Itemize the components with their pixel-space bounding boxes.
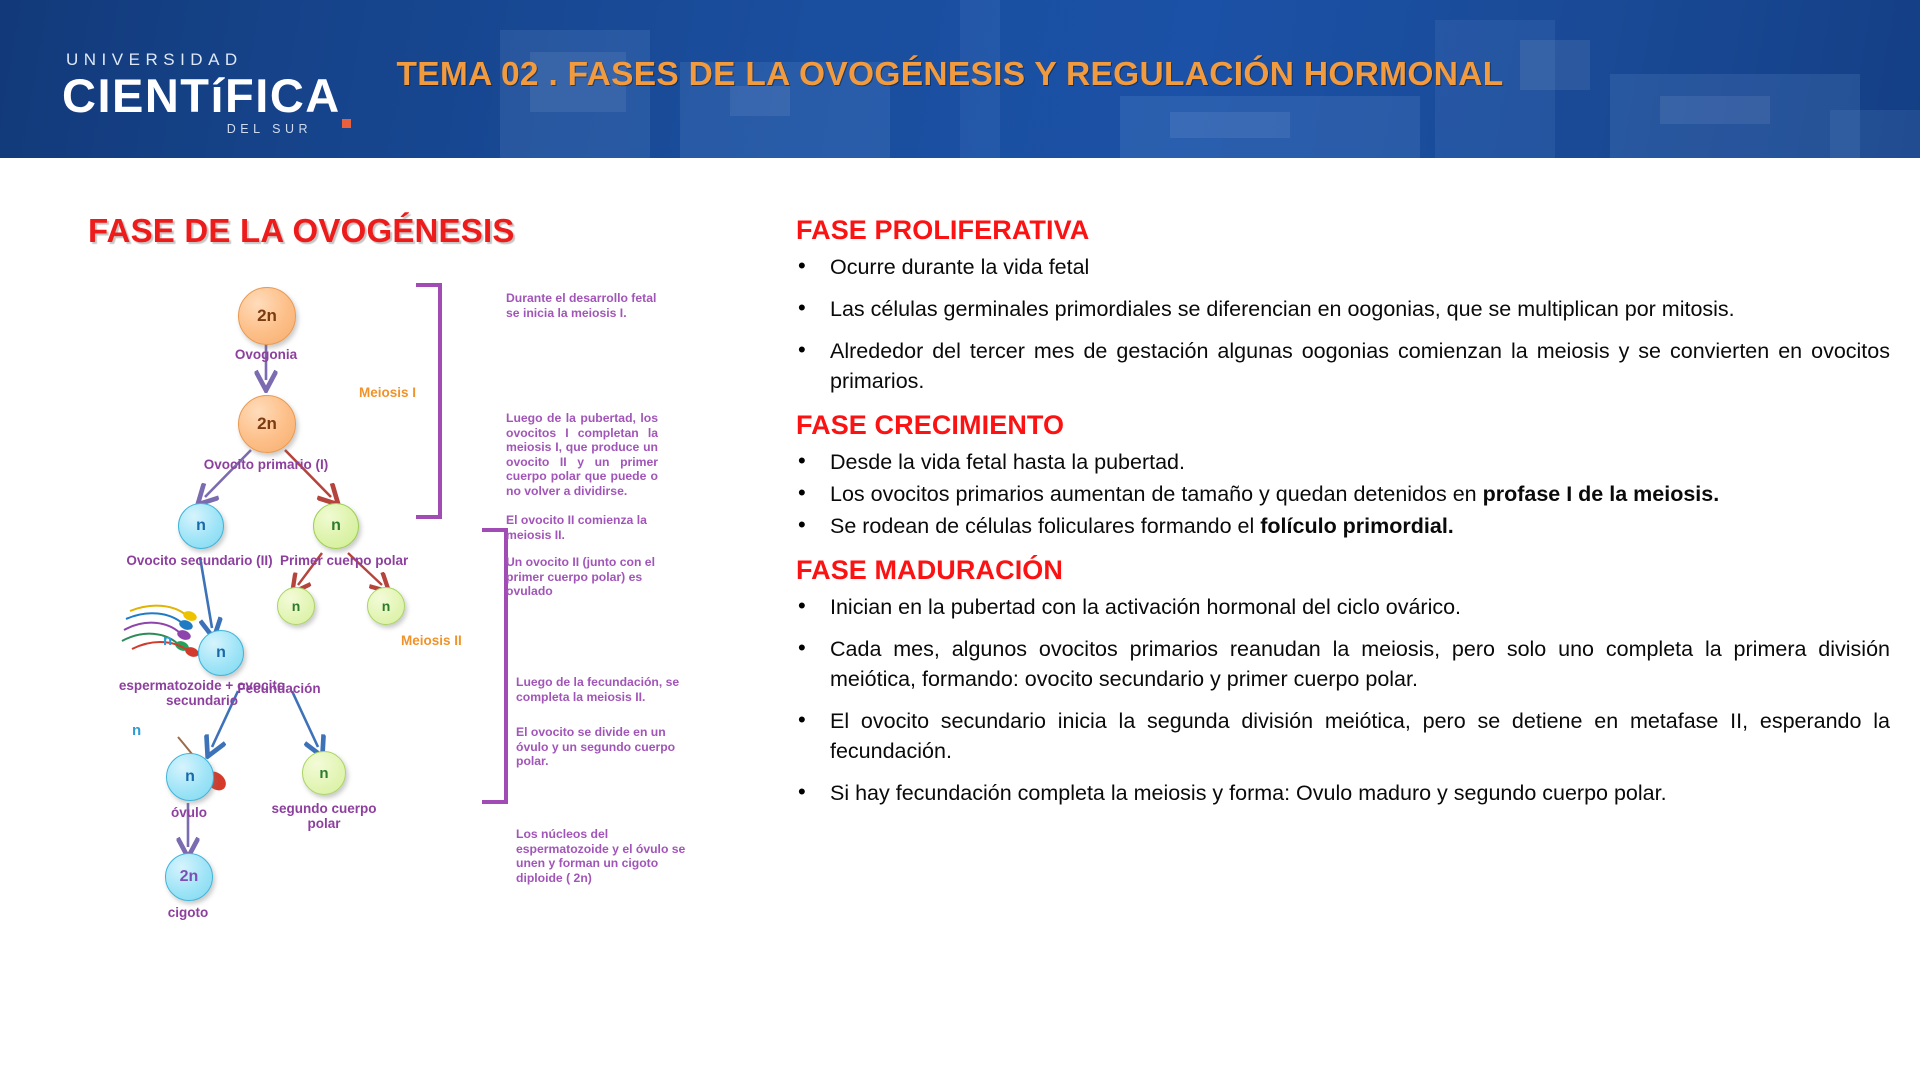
node-segundo-cuerpo-polar: n <box>302 751 346 795</box>
section-heading: FASE PROLIFERATIVA <box>796 215 1890 246</box>
node-ploidy-label: 2n <box>180 868 199 886</box>
label-fecundacion: Fecundación <box>214 681 344 696</box>
bullet-item: Se rodean de células foliculares formand… <box>778 511 1890 541</box>
node-ploidy-label: n <box>292 598 301 614</box>
node-ploidy-label: n <box>331 517 341 535</box>
bullet-item: Los ovocitos primarios aumentan de tamañ… <box>778 479 1890 509</box>
node-ploidy-label: n <box>382 598 391 614</box>
node-ovocito-secundario: n <box>178 503 224 549</box>
bullet-item: Cada mes, algunos ovocitos primarios rea… <box>778 634 1890 694</box>
ovogenesis-diagram: 2n Ovogonia 2n Ovocito primario (I) n Ov… <box>120 285 740 1080</box>
label-ovocito-secundario: Ovocito secundario (II) <box>112 553 287 568</box>
bullet-item: El ovocito secundario inicia la segunda … <box>778 706 1890 766</box>
bullet-list: Ocurre durante la vida fetal Las células… <box>778 252 1890 396</box>
annotation-2: Luego de la pubertad, los ovocitos I com… <box>506 411 658 499</box>
node-primer-cuerpo-polar: n <box>313 503 359 549</box>
node-ploidy-label: 2n <box>257 306 277 326</box>
left-section-title: FASE DE LA OVOGÉNESIS <box>88 212 515 250</box>
label-sperm-n: n <box>163 633 172 648</box>
label-cigoto: cigoto <box>153 905 223 920</box>
sperm-bundle-icon <box>122 606 200 659</box>
label-ovulo: óvulo <box>154 805 224 820</box>
annotation-7: Los núcleos del espermatozoide y el óvul… <box>516 827 691 885</box>
section-heading: FASE MADURACIÓN <box>796 555 1890 586</box>
annotation-4: Un ovocito II (junto con el primer cuerp… <box>506 555 666 599</box>
node-cuerpo-polar-b: n <box>367 587 405 625</box>
node-ovocito-primario: 2n <box>238 395 296 453</box>
section-heading: FASE CRECIMIENTO <box>796 410 1890 441</box>
slide-title: TEMA 02 . FASES DE LA OVOGÉNESIS Y REGUL… <box>360 56 1540 94</box>
bullet-item: Ocurre durante la vida fetal <box>778 252 1890 282</box>
meiosis-1-bracket-bottom <box>416 515 442 519</box>
label-segundo-cuerpo-polar: segundo cuerpo polar <box>268 801 380 831</box>
bullet-list: Desde la vida fetal hasta la pubertad. L… <box>778 447 1890 541</box>
node-cigoto: 2n <box>165 853 213 901</box>
bullet-list: Inician en la pubertad con la activación… <box>778 592 1890 808</box>
node-ploidy-label: n <box>196 517 206 535</box>
logo-line-delsur: DEL SUR <box>62 122 312 136</box>
node-ploidy-label: 2n <box>257 414 277 434</box>
logo-line-cientifica: CIENTíFICA <box>62 71 372 121</box>
meiosis-2-label: Meiosis II <box>398 633 465 648</box>
logo-accent-dot <box>342 119 351 128</box>
bullet-item: Inician en la pubertad con la activación… <box>778 592 1890 622</box>
node-espermatozoide-ovocito: n <box>198 630 244 676</box>
label-primer-cuerpo-polar: Primer cuerpo polar <box>280 553 392 568</box>
section-fase-maduracion: FASE MADURACIÓN Inician en la pubertad c… <box>778 555 1890 808</box>
meiosis-1-bracket-stem <box>438 283 442 519</box>
node-ovulo: n <box>166 753 214 801</box>
phases-text-column: FASE PROLIFERATIVA Ocurre durante la vid… <box>778 215 1890 822</box>
section-fase-crecimiento: FASE CRECIMIENTO Desde la vida fetal has… <box>778 410 1890 541</box>
university-logo: UNIVERSIDAD CIENTíFICA DEL SUR <box>62 50 372 130</box>
annotation-6: El ovocito se divide en un óvulo y un se… <box>516 725 678 769</box>
meiosis-2-bracket-bottom <box>482 800 508 804</box>
node-ploidy-label: n <box>216 644 226 662</box>
label-ovulo-sperm-n: n <box>132 723 141 738</box>
node-ploidy-label: n <box>185 768 195 786</box>
logo-line-universidad: UNIVERSIDAD <box>66 50 372 70</box>
label-ovocito-primario: Ovocito primario (I) <box>186 457 346 472</box>
node-ploidy-label: n <box>319 765 328 782</box>
slide-header: UNIVERSIDAD CIENTíFICA DEL SUR TEMA 02 .… <box>0 0 1920 158</box>
label-ovogonia: Ovogonia <box>216 347 316 362</box>
meiosis-1-label: Meiosis I <box>356 385 419 400</box>
annotation-3: El ovocito II comienza la meiosis II. <box>506 513 666 542</box>
annotation-1: Durante el desarrollo fetal se inicia la… <box>506 291 666 320</box>
node-ovogonia: 2n <box>238 287 296 345</box>
bullet-item: Desde la vida fetal hasta la pubertad. <box>778 447 1890 477</box>
bullet-item: Las células germinales primordiales se d… <box>778 294 1890 324</box>
annotation-5: Luego de la fecundación, se completa la … <box>516 675 684 704</box>
bullet-item: Si hay fecundación completa la meiosis y… <box>778 778 1890 808</box>
node-cuerpo-polar-a: n <box>277 587 315 625</box>
section-fase-proliferativa: FASE PROLIFERATIVA Ocurre durante la vid… <box>778 215 1890 396</box>
bullet-item: Alrededor del tercer mes de gestación al… <box>778 336 1890 396</box>
